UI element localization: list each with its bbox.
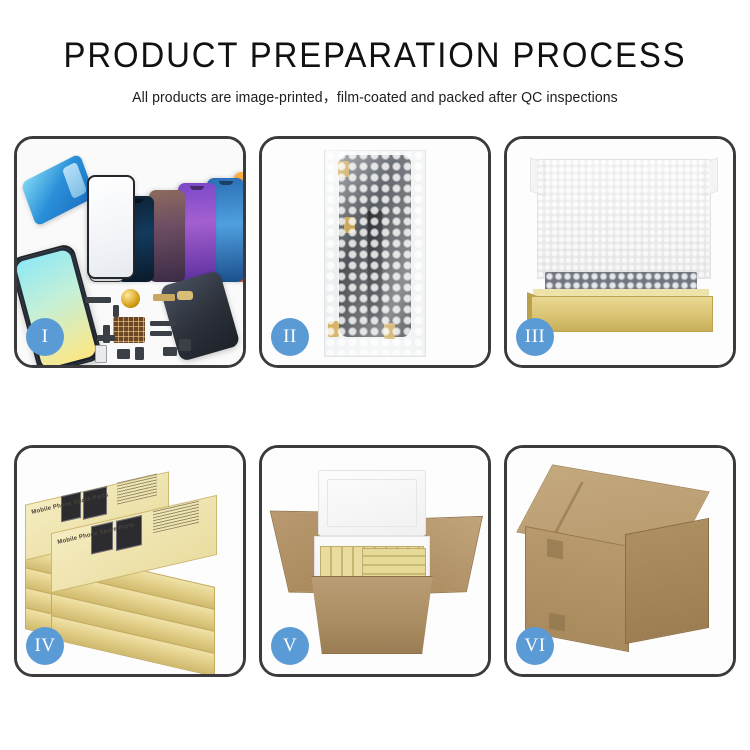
plastic-sheen bbox=[325, 150, 425, 355]
carton-tape-lower bbox=[549, 612, 565, 631]
carton-body-icon bbox=[306, 576, 438, 654]
kraft-box-base-icon bbox=[531, 296, 713, 332]
page-header: PRODUCT PREPARATION PROCESS All products… bbox=[0, 0, 750, 107]
step-badge-5: V bbox=[271, 627, 309, 665]
process-step-card-5[interactable]: V bbox=[259, 445, 491, 677]
lid-foam-texture bbox=[537, 159, 709, 277]
step-badge-2: II bbox=[271, 318, 309, 356]
process-step-card-4[interactable]: Mobile Phone Spare Parts Mobile Phone Sp… bbox=[14, 445, 246, 677]
tempered-glass-icon bbox=[87, 175, 135, 279]
step-badge-4: IV bbox=[26, 627, 64, 665]
page-subtitle: All products are image-printed，film-coat… bbox=[11, 86, 739, 107]
carton-side-face bbox=[625, 518, 709, 644]
process-step-grid: I II III bbox=[14, 136, 736, 677]
process-step-card-2[interactable]: II bbox=[259, 136, 491, 368]
step-badge-6: VI bbox=[516, 627, 554, 665]
process-step-card-1[interactable]: I bbox=[14, 136, 246, 368]
logic-board-icon bbox=[113, 317, 145, 343]
camera-lens-icon bbox=[121, 289, 140, 308]
step-badge-3: III bbox=[516, 318, 554, 356]
step-badge-1: I bbox=[26, 318, 64, 356]
foam-lid-icon bbox=[318, 470, 426, 536]
page-title: PRODUCT PREPARATION PROCESS bbox=[23, 38, 728, 75]
process-step-card-3[interactable]: III bbox=[504, 136, 736, 368]
carton-tape-upper bbox=[547, 538, 563, 559]
process-step-card-6[interactable]: VI bbox=[504, 445, 736, 677]
